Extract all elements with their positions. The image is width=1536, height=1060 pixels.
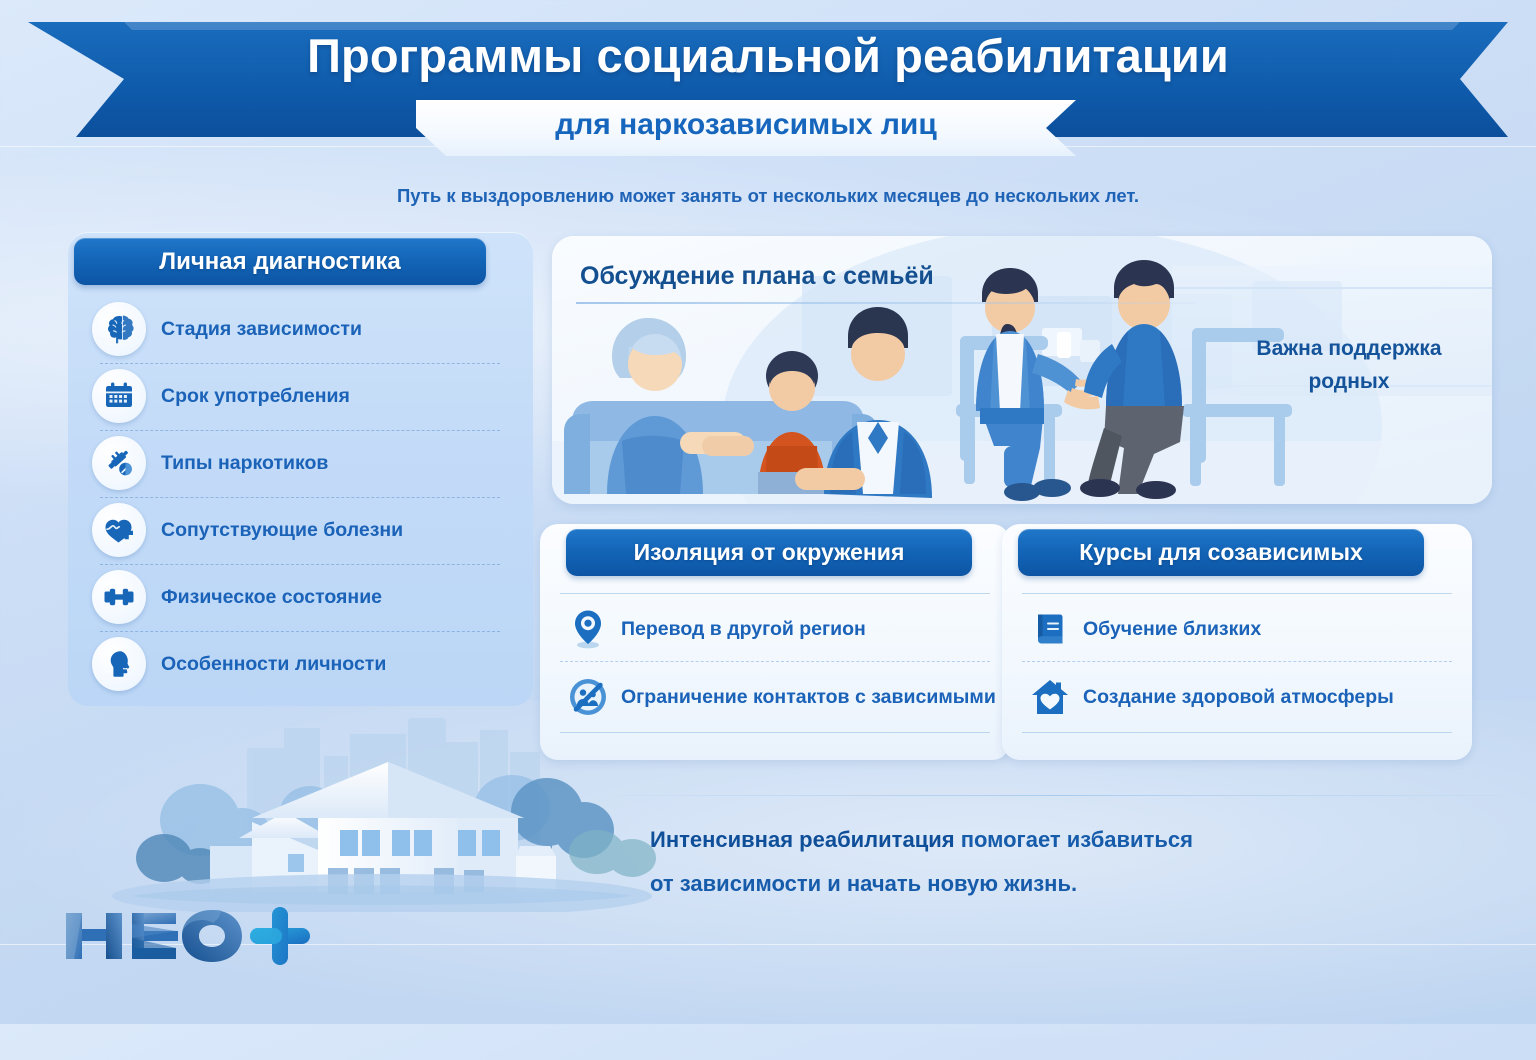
illustration-heading-rule [576,302,1196,304]
list-divider [100,631,500,632]
calendar-icon [92,369,146,423]
head-profile-icon [92,637,146,691]
footer-rule [620,795,1500,796]
list-divider [100,497,500,498]
list-item-label: Сопутствующие болезни [161,519,403,542]
page-subtitle: для наркозависимых лиц [416,108,1076,142]
list-divider [100,363,500,364]
footer-statement: Интенсивная реабилитация помогает избави… [650,818,1370,906]
illustration-card: Обсуждение плана с семьёй Важна поддержк… [552,236,1492,504]
list-item[interactable]: Типы наркотиков [92,432,512,494]
list-item[interactable]: Сопутствующие болезни [92,499,512,561]
list-divider [100,430,500,431]
house-heart-icon [1028,678,1072,716]
list-item[interactable]: Стадия зависимости [92,298,512,360]
list-item-label: Особенности личности [161,653,386,676]
list-item-label: Типы наркотиков [161,452,328,475]
logo-neo-plus[interactable] [62,905,322,967]
heart-plus-icon [92,503,146,557]
syringe-pill-icon [92,436,146,490]
list-item[interactable]: Особенности личности [92,633,512,695]
footer-statement-bold: Интенсивная реабилитация [650,827,955,852]
card-codependent-courses-heading: Курсы для созависимых [1018,529,1424,576]
card-list-item[interactable]: Перевод в другой регион [566,598,986,660]
infographic-poster: Программы социальной реабилитации для на… [0,0,1536,1024]
brain-icon [92,302,146,356]
book-icon [1028,611,1072,647]
list-item[interactable]: Срок употребления [92,365,512,427]
card-list-item-label: Создание здоровой атмосферы [1083,686,1394,709]
list-item-label: Физическое состояние [161,586,382,609]
list-item[interactable]: Физическое состояние [92,566,512,628]
card-rule [1022,593,1452,594]
card-list-item-label: Обучение близких [1083,618,1261,641]
list-item-label: Срок употребления [161,385,350,408]
card-rule [1022,732,1452,733]
list-item-label: Стадия зависимости [161,318,362,341]
rehab-center-house-illustration [92,700,662,912]
left-panel-heading: Личная диагностика [74,238,486,285]
footer-statement-rest: помогает избавиться [955,827,1193,852]
illustration-heading: Обсуждение плана с семьёй [580,262,934,291]
card-isolation-heading: Изоляция от окружения [566,529,972,576]
card-list-item[interactable]: Обучение близких [1028,598,1458,660]
card-rule [560,661,990,662]
card-rule [1022,661,1452,662]
footer-statement-line2: от зависимости и начать новую жизнь. [650,871,1077,896]
card-list-item[interactable]: Создание здоровой атмосферы [1028,666,1468,728]
card-rule [560,593,990,594]
list-divider [100,564,500,565]
page-title: Программы социальной реабилитации [0,28,1536,83]
card-list-item-label: Перевод в другой регион [621,618,866,641]
dumbbell-icon [92,570,146,624]
map-pin-icon [566,609,610,649]
card-list-item-label: Ограничение контактов с зависимыми [621,686,996,709]
illustration-note: Важна поддержка родных [1224,332,1474,398]
lead-text: Путь к выздоровлению может занять от нес… [0,185,1536,207]
